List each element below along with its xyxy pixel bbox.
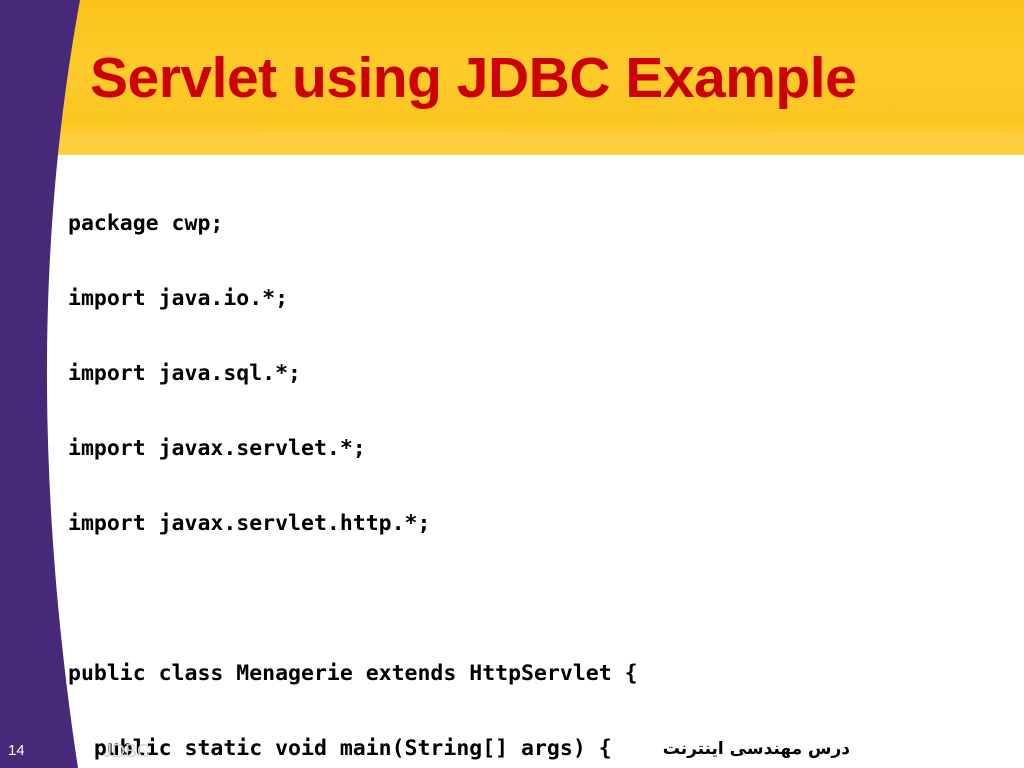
code-line: import java.sql.*; xyxy=(68,361,998,386)
code-line: package cwp; xyxy=(68,211,998,236)
code-line: import javax.servlet.http.*; xyxy=(68,511,998,536)
slide: Servlet using JDBC Example package cwp; … xyxy=(0,0,1024,768)
footer-course-label: درس مهندسی اینترنت xyxy=(560,737,850,761)
footer-subject-label: JDBC xyxy=(103,740,150,762)
page-title: Servlet using JDBC Example xyxy=(90,38,970,118)
code-line: import java.io.*; xyxy=(68,286,998,311)
code-line: public class Menagerie extends HttpServl… xyxy=(68,661,998,686)
code-line-blank xyxy=(68,586,998,611)
code-line: import javax.servlet.*; xyxy=(68,436,998,461)
code-listing: package cwp; import java.io.*; import ja… xyxy=(68,161,998,768)
code-line: public static void main(String[] args) { xyxy=(68,736,998,761)
footer-page-number: 14 xyxy=(8,742,25,760)
